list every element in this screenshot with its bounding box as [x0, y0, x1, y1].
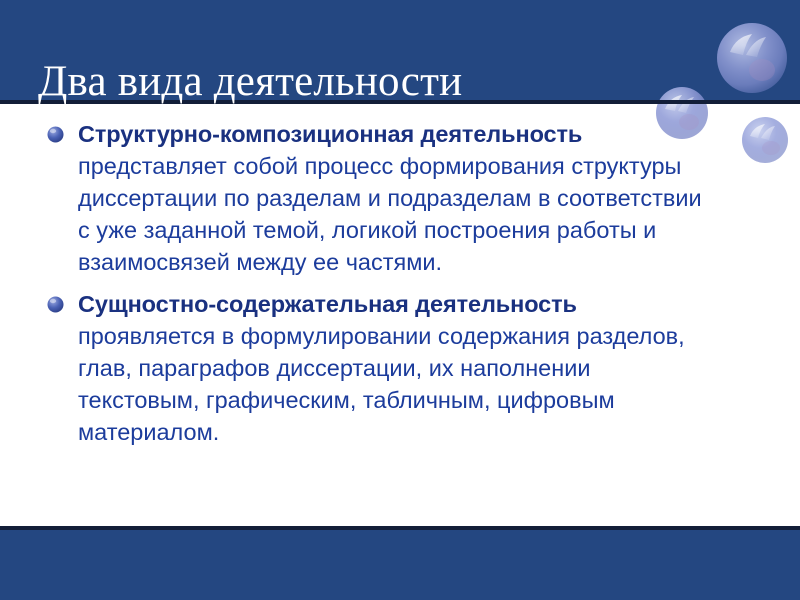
sphere-bullet-icon	[47, 296, 64, 313]
bullet-lead-term: Структурно-композиционная деятельность	[78, 121, 582, 147]
bullet-paragraph: Структурно-композиционная деятельность п…	[78, 118, 710, 278]
bullet-lead-term: Сущностно-содержательная деятельность	[78, 291, 577, 317]
footer-band	[0, 530, 800, 600]
bullet-paragraph: Сущностно-содержательная деятельность пр…	[78, 288, 710, 448]
bullet-body-text: представляет собой процесс формирования …	[78, 153, 702, 275]
bullet-item-1: Структурно-композиционная деятельность п…	[0, 118, 800, 278]
page-title: Два вида деятельности	[38, 56, 678, 108]
slide: Два вида деятельности	[0, 0, 800, 600]
bullet-body-text: проявляется в формулировании содержания …	[78, 323, 685, 445]
sphere-bullet-icon	[47, 126, 64, 143]
bullet-item-2: Сущностно-содержательная деятельность пр…	[0, 288, 800, 448]
footer-divider-rule	[0, 526, 800, 530]
slide-body: Структурно-композиционная деятельность п…	[0, 104, 800, 526]
